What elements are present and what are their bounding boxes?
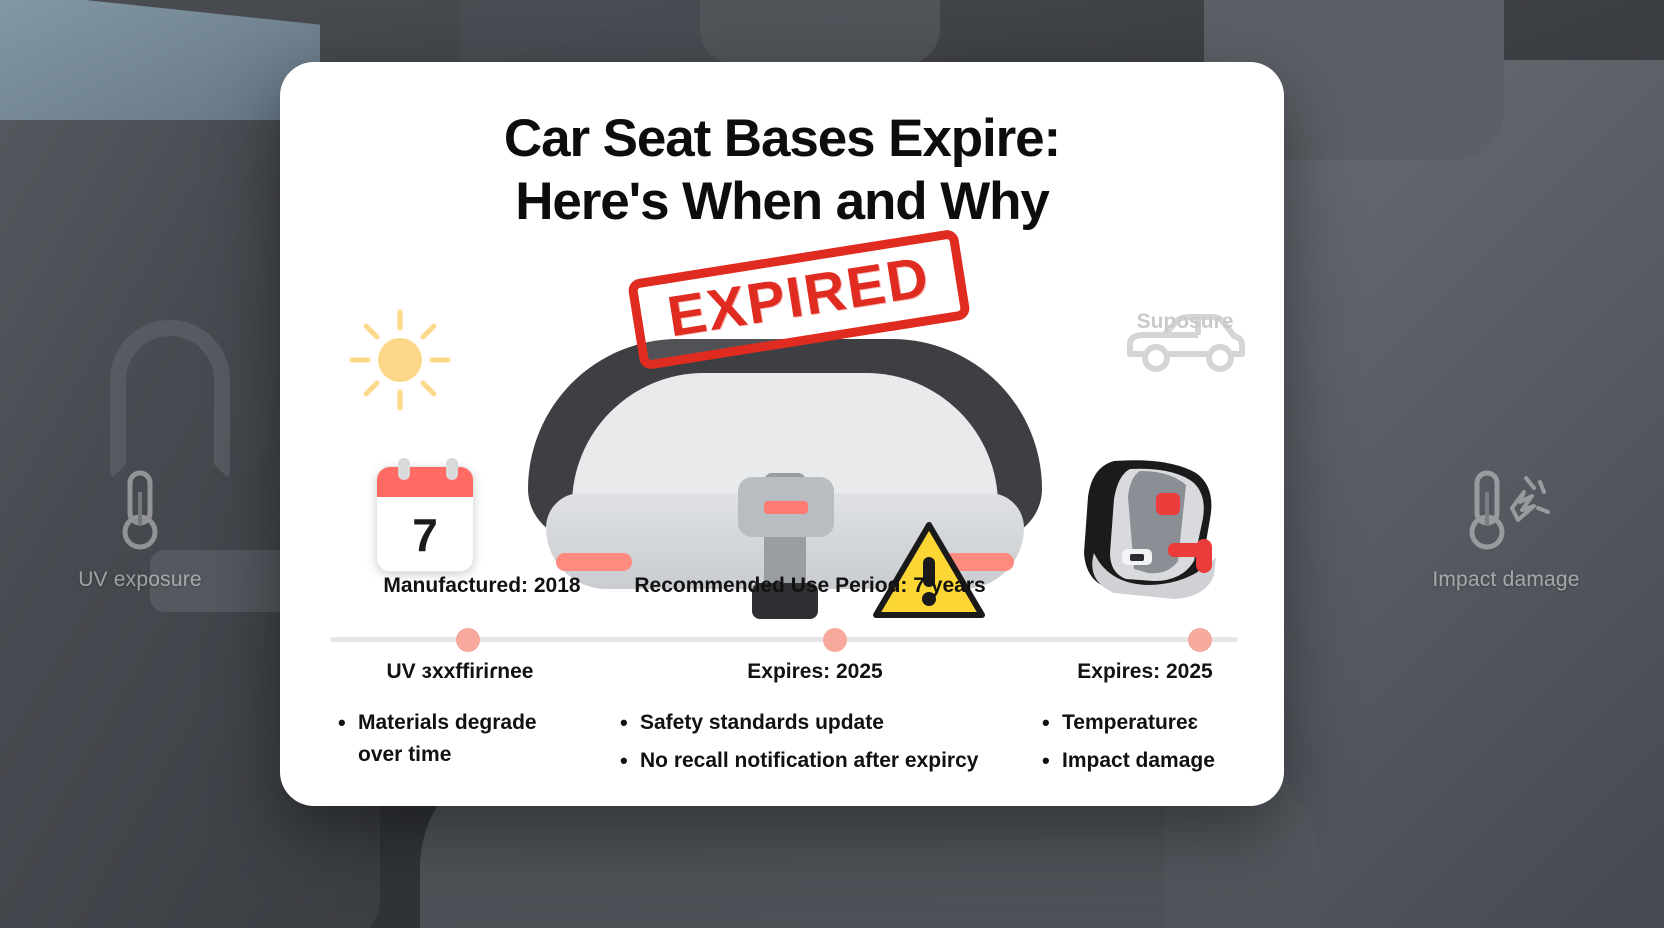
bg-feature-uv-exposure: UV exposure <box>40 468 240 592</box>
list-item: Materials degrade over time <box>336 707 576 770</box>
title-line-2: Here's When and Why <box>280 171 1284 234</box>
timeline-dot-1[interactable] <box>456 628 480 652</box>
list-item: Safety standards update <box>618 707 998 739</box>
bg-feature-uv-label: UV exposure <box>78 568 202 592</box>
bullet-list-left: Materials degrade over time <box>336 707 576 776</box>
list-item: No recall notification after expircy <box>618 745 998 777</box>
captions-row-secondary: UV ɜxxffiriɾnee Expires: 2025 Expires: 2… <box>280 660 1284 694</box>
bullet-list-middle: Safety standards update No recall notifi… <box>618 707 998 782</box>
door-handle <box>110 320 230 480</box>
car-outline-icon: Suposure <box>1100 310 1270 376</box>
caption-uv-garbled: UV ɜxxffiriɾnee <box>300 660 620 684</box>
infographic-canvas: UV exposure Impact damage Car Seat Bases… <box>0 0 1664 928</box>
rearview-mirror <box>700 0 940 65</box>
bg-feature-impact-damage: Impact damage <box>1396 468 1616 592</box>
infographic-card: Car Seat Bases Expire: Here's When and W… <box>280 62 1284 806</box>
caption-recommended-use: Recommended Use Period: 7 years <box>610 574 1010 598</box>
page-title: Car Seat Bases Expire: Here's When and W… <box>280 108 1284 233</box>
timeline <box>330 628 1238 652</box>
calendar-icon: 7 <box>376 466 474 572</box>
caption-expires-middle: Expires: 2025 <box>670 660 960 684</box>
caption-manufactured: Manufactured: 2018 <box>332 574 632 598</box>
calendar-day: 7 <box>377 497 473 572</box>
sun-icon <box>340 300 460 420</box>
captions-row-primary: Manufactured: 2018 Recommended Use Perio… <box>280 574 1284 610</box>
thermometer-icon <box>113 468 167 554</box>
caption-expires-right: Expires: 2025 <box>1000 660 1284 684</box>
base-pad-left <box>556 553 632 571</box>
bullet-list-right: Temperatureɛ Impact damage <box>1040 707 1284 782</box>
calendar-ring-left <box>398 458 410 480</box>
base-buckle <box>738 477 834 537</box>
car-outline-caption: Suposure <box>1137 310 1234 334</box>
thermometer-crack-icon <box>1460 468 1552 554</box>
list-item: Temperatureɛ <box>1040 707 1284 739</box>
calendar-ring-right <box>446 458 458 480</box>
bg-feature-impact-label: Impact damage <box>1432 568 1579 592</box>
list-item-continuation: Impact damage <box>1040 745 1284 777</box>
timeline-dot-3[interactable] <box>1188 628 1212 652</box>
title-line-1: Car Seat Bases Expire: <box>504 109 1060 168</box>
calendar-header <box>377 467 473 497</box>
timeline-dot-2[interactable] <box>823 628 847 652</box>
